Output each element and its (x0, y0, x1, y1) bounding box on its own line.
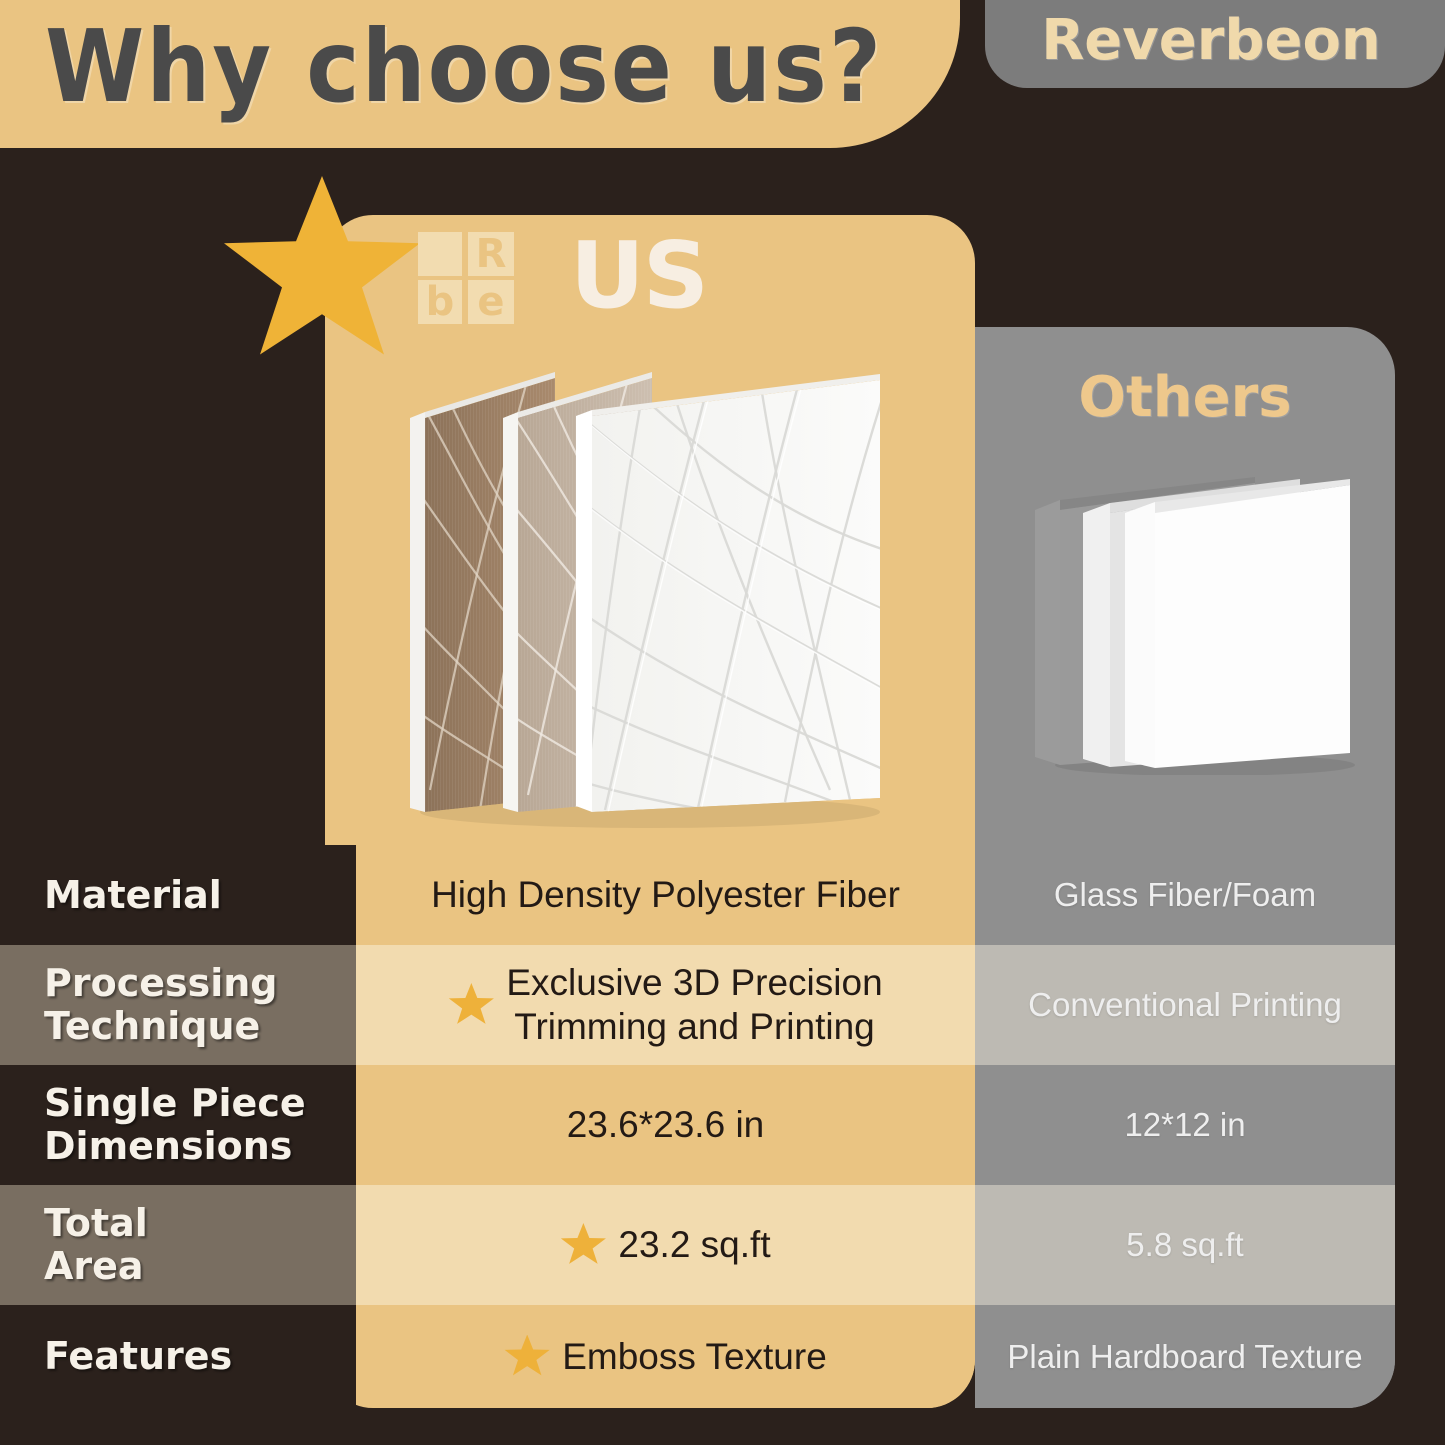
infographic-canvas: Why choose us? Reverbeon R b e US Others (0, 0, 1445, 1445)
table-row: Features Emboss Texture Plain Hardboard … (0, 1305, 1445, 1408)
logo-cell-bottom-right: e (468, 280, 514, 324)
row-others-value: Plain Hardboard Texture (975, 1305, 1395, 1408)
title-banner: Why choose us? (0, 0, 960, 148)
others-product-image (1015, 465, 1365, 775)
us-product-image (380, 360, 900, 830)
page-title: Why choose us? (45, 8, 883, 125)
others-column-heading: Others (975, 365, 1395, 430)
logo-cell-top-right: R (468, 232, 514, 276)
row-others-value: 5.8 sq.ft (975, 1185, 1395, 1305)
logo-cell-bottom-left: b (418, 280, 462, 324)
table-row: Material High Density Polyester Fiber Gl… (0, 845, 1445, 945)
brand-name: Reverbeon (985, 8, 1437, 73)
us-value-text: 23.6*23.6 in (567, 1103, 765, 1147)
us-value-text: High Density Polyester Fiber (431, 873, 900, 917)
row-us-value: High Density Polyester Fiber (356, 845, 975, 945)
row-us-value: 23.6*23.6 in (356, 1065, 975, 1185)
comparison-table: Material High Density Polyester Fiber Gl… (0, 845, 1445, 1445)
row-label: Single Piece Dimensions (0, 1065, 356, 1185)
brand-banner: Reverbeon (985, 0, 1445, 88)
table-row: Total Area 23.2 sq.ft 5.8 sq.ft (0, 1185, 1445, 1305)
row-others-value: Glass Fiber/Foam (975, 845, 1395, 945)
table-row: Processing Technique Exclusive 3D Precis… (0, 945, 1445, 1065)
reverbeon-logo-icon: R b e (418, 232, 514, 324)
us-column-heading: US (570, 222, 707, 329)
row-label: Material (0, 845, 356, 945)
star-icon (504, 1335, 550, 1379)
row-us-value: Emboss Texture (356, 1305, 975, 1408)
row-us-value: 23.2 sq.ft (356, 1185, 975, 1305)
row-label: Processing Technique (0, 945, 356, 1065)
star-icon (448, 983, 494, 1027)
us-value-text: 23.2 sq.ft (618, 1223, 770, 1267)
logo-cell-top-left (418, 232, 462, 276)
star-icon (560, 1223, 606, 1267)
us-value-text: Emboss Texture (562, 1335, 827, 1379)
row-others-value: 12*12 in (975, 1065, 1395, 1185)
us-value-text: Exclusive 3D Precision Trimming and Prin… (506, 961, 882, 1048)
row-label: Total Area (0, 1185, 356, 1305)
table-row: Single Piece Dimensions 23.6*23.6 in 12*… (0, 1065, 1445, 1185)
row-label: Features (0, 1305, 356, 1408)
row-us-value: Exclusive 3D Precision Trimming and Prin… (356, 945, 975, 1065)
row-others-value: Conventional Printing (975, 945, 1395, 1065)
